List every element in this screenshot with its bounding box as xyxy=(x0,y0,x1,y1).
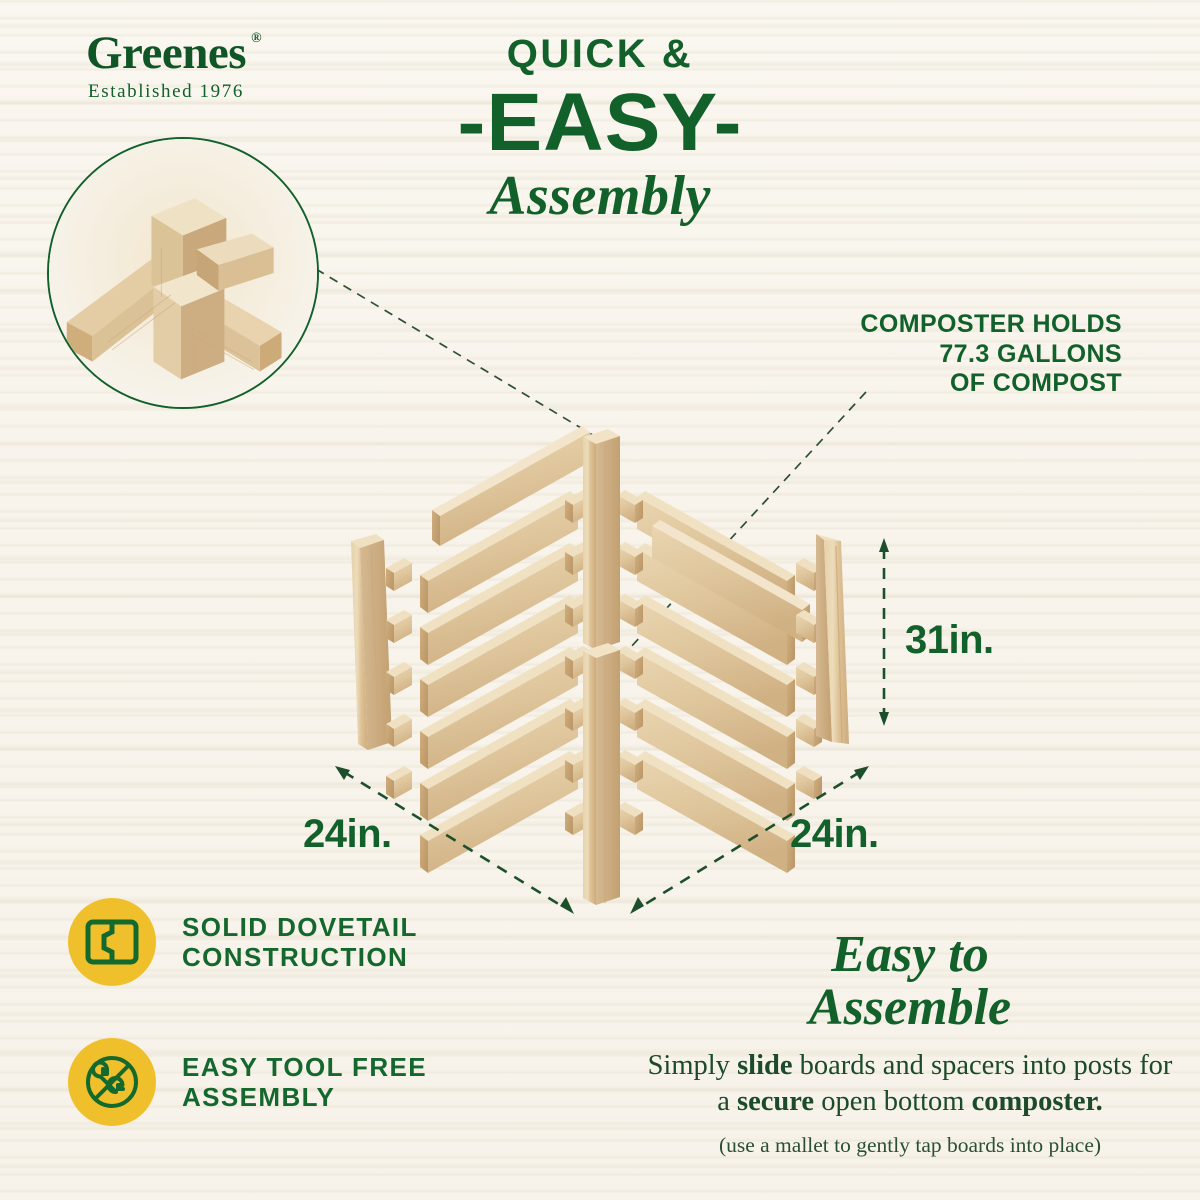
capacity-line-1: COMPOSTER HOLDS xyxy=(860,310,1122,340)
feature-solid-dovetail: SOLID DOVETAIL CONSTRUCTION xyxy=(68,898,418,986)
feature-label-dovetail: SOLID DOVETAIL CONSTRUCTION xyxy=(182,912,418,972)
easy-to-assemble-body: Simply slide boards and spacers into pos… xyxy=(640,1048,1180,1120)
easy-to-assemble-block: Easy to Assemble Simply slide boards and… xyxy=(640,928,1180,1158)
body-bold-composter: composter. xyxy=(972,1086,1103,1117)
capacity-line-3: OF COMPOST xyxy=(860,369,1122,399)
headline-line-assembly: Assembly xyxy=(360,168,840,224)
panel-right-boards xyxy=(637,491,810,873)
infographic-page: Greenes® Established 1976 QUICK & -EASY-… xyxy=(0,0,1200,1200)
post-rear xyxy=(583,429,620,650)
headline-line-quick: QUICK & xyxy=(360,34,840,74)
feature-label-tool-free: EASY TOOL FREE ASSEMBLY xyxy=(182,1052,427,1112)
capacity-line-2: 77.3 GALLONS xyxy=(860,340,1122,370)
mallet-note: (use a mallet to gently tap boards into … xyxy=(640,1133,1180,1158)
no-tools-badge xyxy=(68,1038,156,1126)
post-left-outer xyxy=(351,534,392,750)
capacity-callout: COMPOSTER HOLDS 77.3 GALLONS OF COMPOST xyxy=(860,310,1122,399)
dovetail-detail-circle xyxy=(47,137,319,409)
headline-block: QUICK & -EASY- Assembly xyxy=(360,34,840,224)
dovetail-badge xyxy=(68,898,156,986)
body-text-1: Simply xyxy=(648,1050,737,1081)
panel-left-boards xyxy=(420,426,590,873)
post-front xyxy=(583,643,620,905)
dovetail-icon xyxy=(85,919,139,965)
no-tools-wrench-icon xyxy=(84,1054,140,1110)
post-right-outer xyxy=(816,534,849,744)
body-text-3: open bottom xyxy=(814,1086,972,1117)
easy-to-assemble-heading: Easy to Assemble xyxy=(640,928,1180,1034)
body-bold-slide: slide xyxy=(737,1050,792,1081)
feature-tool-free: EASY TOOL FREE ASSEMBLY xyxy=(68,1038,427,1126)
brand-logo: Greenes® Established 1976 xyxy=(36,30,296,103)
dimension-label-height: 31in. xyxy=(905,618,994,663)
brand-name: Greenes® xyxy=(86,30,246,77)
brand-tagline: Established 1976 xyxy=(36,81,296,103)
body-bold-secure: secure xyxy=(737,1086,814,1117)
dimension-label-width-right: 24in. xyxy=(790,812,879,857)
registered-mark: ® xyxy=(251,32,261,46)
leader-line-dovetail xyxy=(316,269,596,437)
headline-line-easy: -EASY- xyxy=(355,80,845,166)
dimension-label-width-left: 24in. xyxy=(303,812,392,857)
dovetail-joint-photo xyxy=(49,139,317,407)
brand-name-text: Greenes xyxy=(86,27,246,79)
